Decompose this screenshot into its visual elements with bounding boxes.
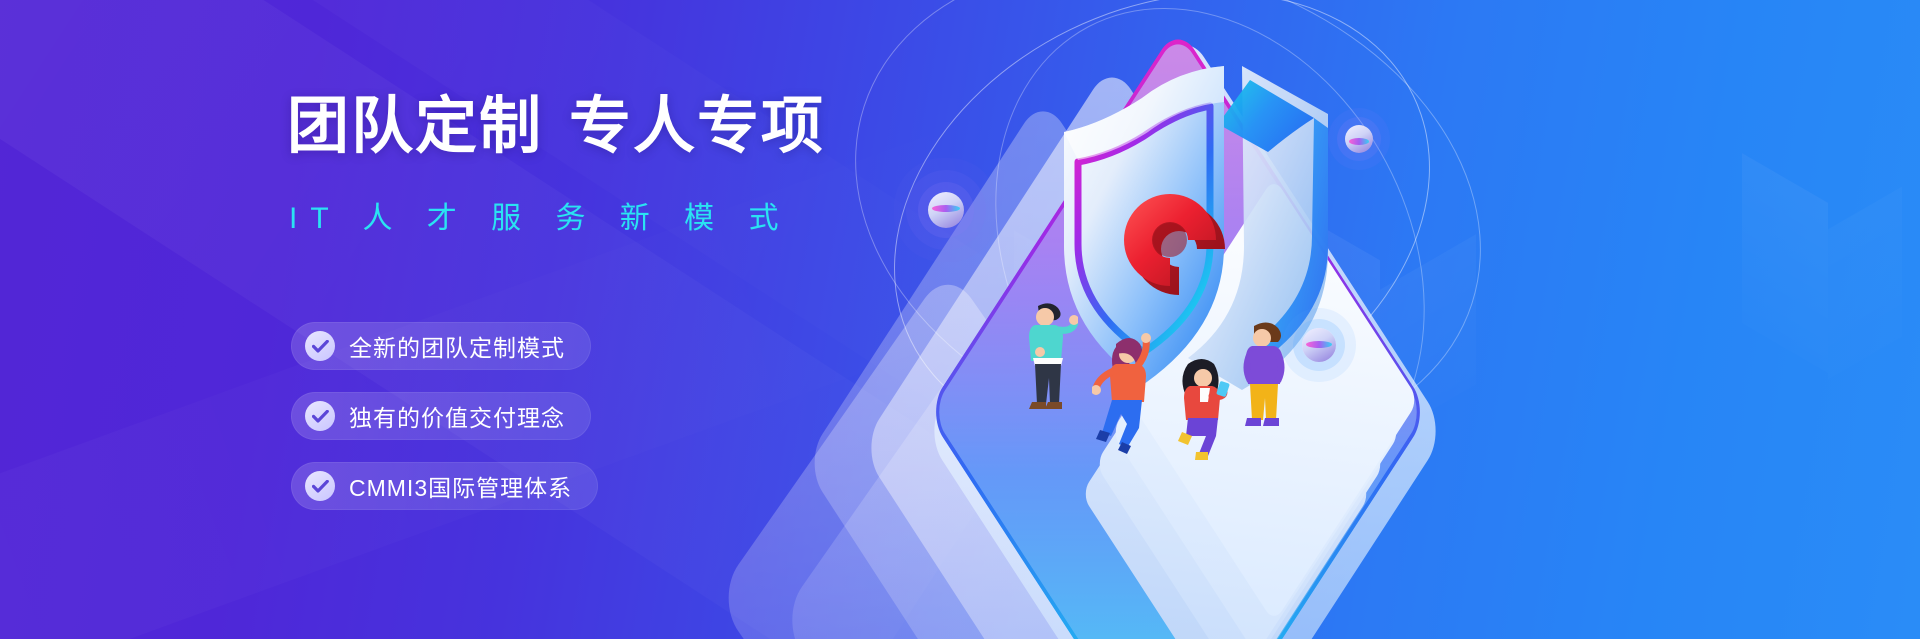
feature-label: CMMI3国际管理体系: [349, 469, 572, 503]
promo-banner: 团队定制专人专项 IT 人 才 服 务 新 模 式 全新的团队定制模式 独有的: [0, 0, 1920, 639]
check-icon: [305, 401, 335, 431]
headline-part-1: 团队定制: [287, 92, 543, 161]
feature-label: 独有的价值交付理念: [349, 399, 565, 433]
person-figure: [1092, 330, 1162, 458]
page-subtitle: IT 人 才 服 务 新 模 式: [289, 204, 791, 234]
person-figure: [1170, 352, 1232, 464]
person-figure: [1236, 318, 1294, 438]
feature-pill[interactable]: 全新的团队定制模式: [291, 322, 591, 370]
banner-copy: 团队定制专人专项 IT 人 才 服 务 新 模 式 全新的团队定制模式 独有的: [287, 0, 1007, 639]
feature-pill[interactable]: CMMI3国际管理体系: [291, 462, 598, 510]
person-figure: [1018, 300, 1078, 420]
headline-part-2: 专人专项: [569, 92, 825, 161]
orbit-node-icon: [1345, 125, 1373, 153]
check-icon: [305, 471, 335, 501]
feature-label: 全新的团队定制模式: [349, 329, 565, 363]
orbit-node-icon: [1302, 328, 1336, 362]
check-icon: [305, 331, 335, 361]
feature-list: 全新的团队定制模式 独有的价值交付理念 CMMI3国际管理体系: [291, 322, 598, 532]
feature-pill[interactable]: 独有的价值交付理念: [291, 392, 591, 440]
page-title: 团队定制专人专项: [287, 96, 825, 158]
